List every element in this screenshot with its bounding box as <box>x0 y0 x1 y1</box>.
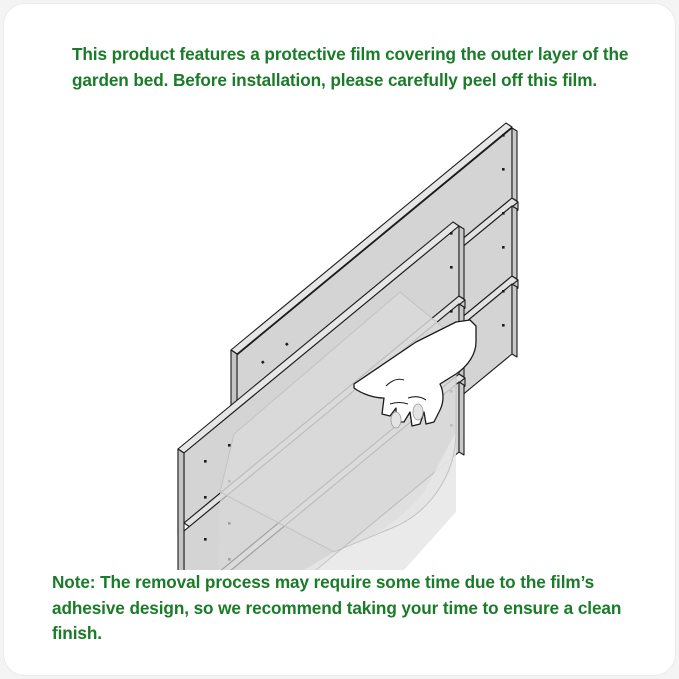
instruction-card: This product features a protective film … <box>3 3 676 676</box>
illustration-svg <box>4 100 676 570</box>
page-root: This product features a protective film … <box>0 0 679 679</box>
bottom-note-text: Note: The removal process may require so… <box>52 570 644 647</box>
top-instruction-text: This product features a protective film … <box>72 42 634 93</box>
garden-bed-film-peel-illustration <box>4 100 676 570</box>
